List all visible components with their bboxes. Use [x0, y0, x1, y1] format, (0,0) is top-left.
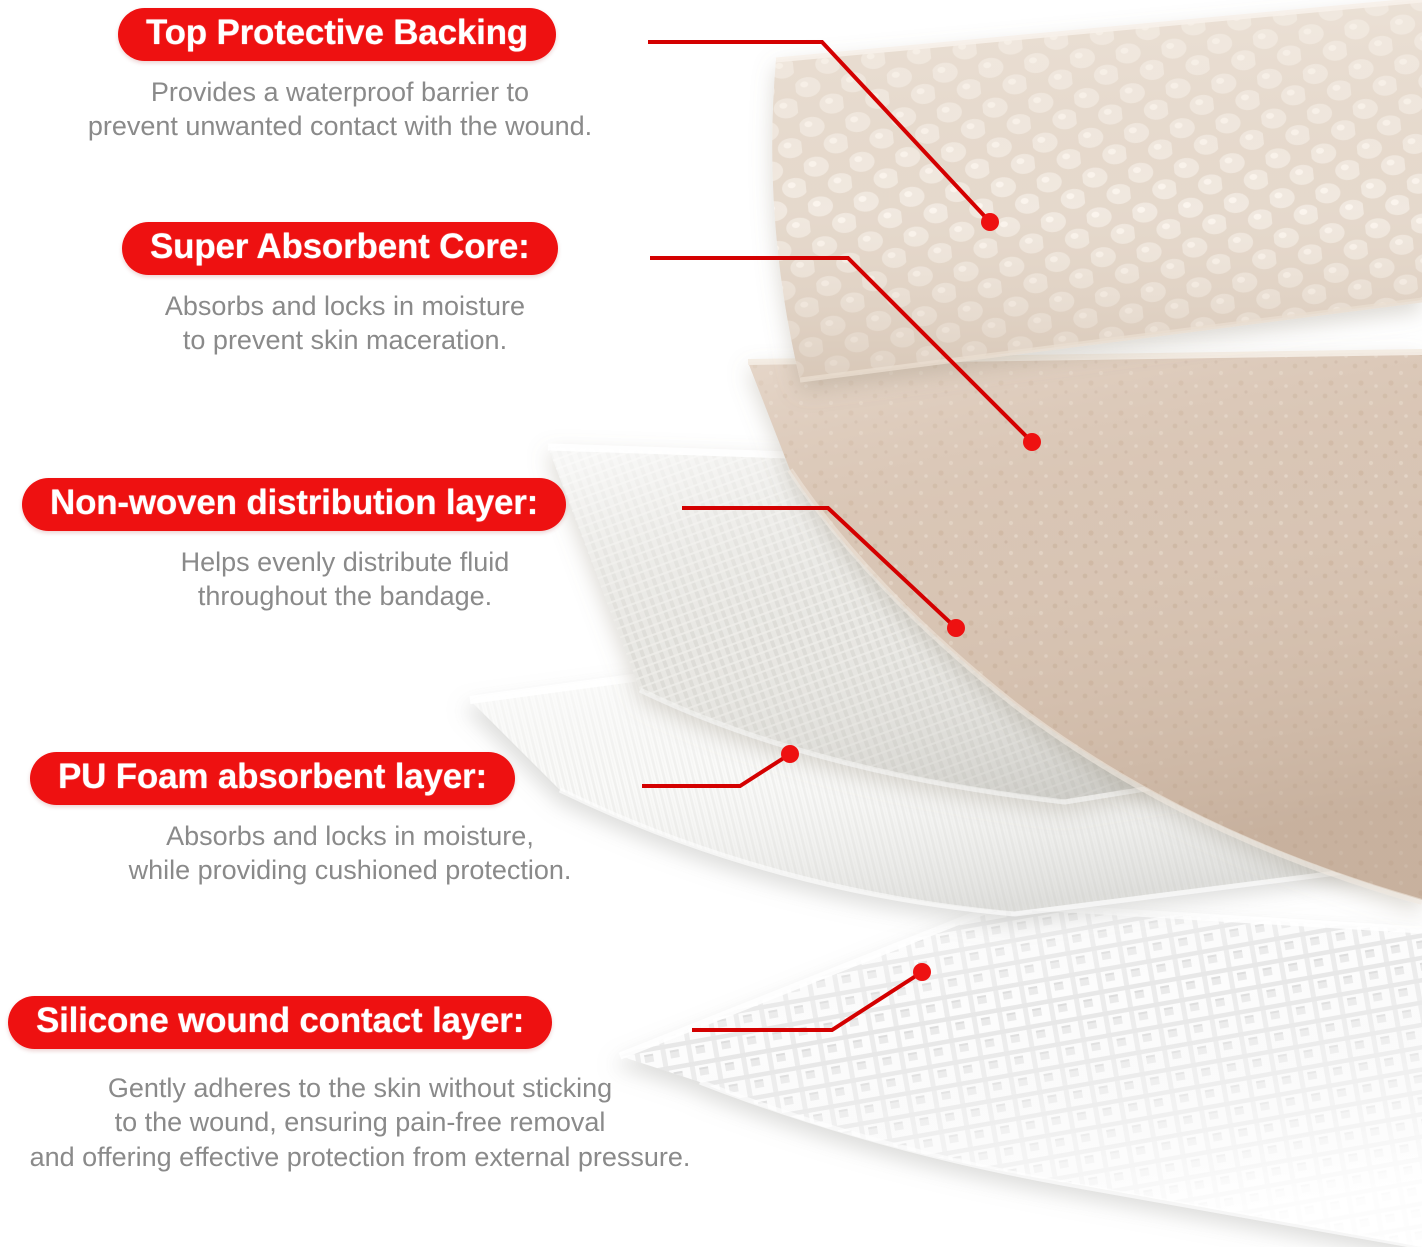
leader-dot-silicone-wound-contact-layer [913, 963, 931, 981]
illustration-super-absorbent-core [748, 352, 1422, 902]
leader-dot-pu-foam-absorbent-layer [781, 745, 799, 763]
leader-line-silicone-wound-contact-layer [692, 972, 922, 1030]
callout-silicone-wound-contact-layer: Silicone wound contact layer: Gently adh… [0, 996, 720, 1174]
leader-line-non-woven-distribution-layer [682, 508, 956, 628]
layer-title-badge[interactable]: Silicone wound contact layer: [8, 996, 552, 1049]
layer-description: Absorbs and locks in moisture, while pro… [0, 819, 700, 888]
layer-title-badge[interactable]: PU Foam absorbent layer: [30, 752, 515, 805]
product-layer-infographic: Top Protective Backing Provides a waterp… [0, 0, 1422, 1247]
badge-row: Non-woven distribution layer: [0, 478, 720, 531]
callout-super-absorbent-core: Super Absorbent Core: Absorbs and locks … [0, 222, 720, 358]
illustration-top-protective-backing [772, 0, 1422, 380]
layer-description: Gently adheres to the skin without stick… [0, 1071, 720, 1175]
leader-dot-non-woven-distribution-layer [947, 619, 965, 637]
callout-non-woven-distribution-layer: Non-woven distribution layer: Helps even… [0, 478, 720, 614]
leader-dots [781, 213, 1041, 981]
badge-row: PU Foam absorbent layer: [0, 752, 720, 805]
callout-pu-foam-absorbent-layer: PU Foam absorbent layer: Absorbs and loc… [0, 752, 720, 888]
layer-title-badge[interactable]: Super Absorbent Core: [122, 222, 558, 275]
layer-description: Provides a waterproof barrier to prevent… [0, 75, 680, 144]
callout-top-protective-backing: Top Protective Backing Provides a waterp… [0, 8, 720, 144]
illustration-silicone-wound-contact-layer [620, 905, 1422, 1247]
leader-dot-super-absorbent-core [1023, 433, 1041, 451]
badge-row: Silicone wound contact layer: [0, 996, 720, 1049]
layer-description: Absorbs and locks in moisture to prevent… [0, 289, 690, 358]
leader-dot-top-protective-backing [981, 213, 999, 231]
layer-title-badge[interactable]: Non-woven distribution layer: [22, 478, 566, 531]
badge-row: Super Absorbent Core: [0, 222, 720, 275]
layer-title-badge[interactable]: Top Protective Backing [118, 8, 556, 61]
layer-description: Helps evenly distribute fluid throughout… [0, 545, 690, 614]
badge-row: Top Protective Backing [0, 8, 720, 61]
